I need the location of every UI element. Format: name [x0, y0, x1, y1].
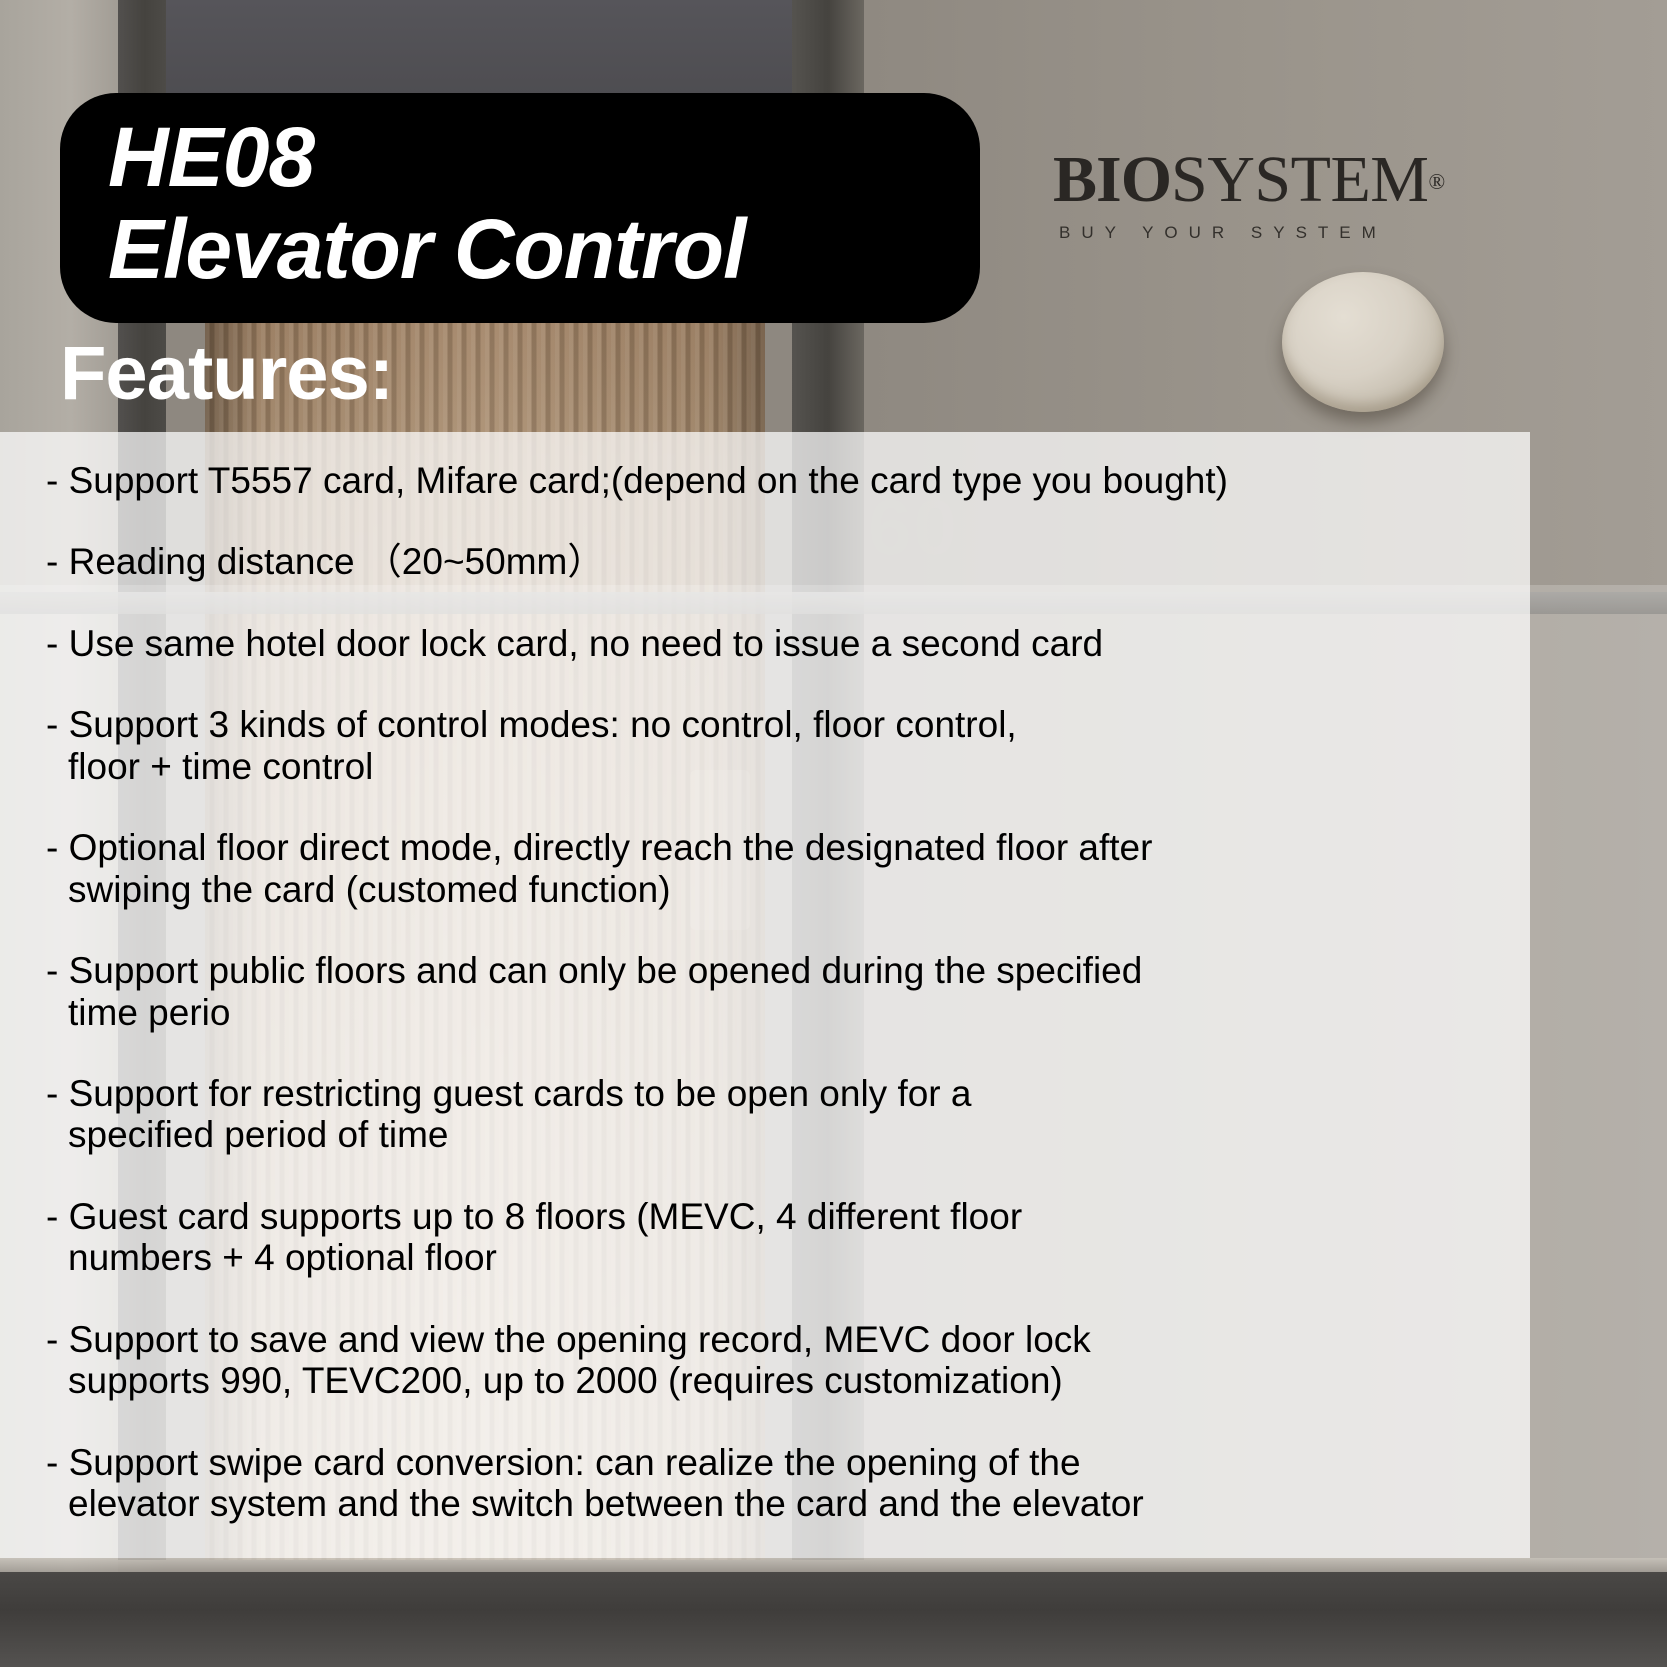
list-item: - Guest card supports up to 8 floors (ME… — [46, 1196, 1466, 1279]
list-item: - Support T5557 card, Mifare card;(depen… — [46, 460, 1466, 501]
features-heading: Features: — [60, 330, 393, 417]
poster-canvas: 60 HE08 Elevator Control BIOSYSTEM® BUY … — [0, 0, 1667, 1667]
list-item: - Support public floors and can only be … — [46, 950, 1466, 1033]
list-item: - Support to save and view the opening r… — [46, 1319, 1466, 1402]
list-item: - Optional floor direct mode, directly r… — [46, 827, 1466, 910]
list-item: - Support 3 kinds of control modes: no c… — [46, 704, 1466, 787]
list-item: - Support for restricting guest cards to… — [46, 1073, 1466, 1156]
brand-wordmark: BIOSYSTEM® — [1053, 148, 1445, 211]
floor-strip — [0, 1572, 1667, 1667]
product-name: Elevator Control — [108, 201, 745, 298]
brand-name-bold: BIO — [1053, 143, 1171, 216]
registered-trademark-icon: ® — [1428, 169, 1445, 194]
brand-name-light: SYSTEM — [1171, 143, 1428, 216]
brand-logo: BIOSYSTEM® BUY YOUR SYSTEM — [1053, 148, 1445, 243]
features-list: - Support T5557 card, Mifare card;(depen… — [46, 460, 1466, 1564]
brand-tagline: BUY YOUR SYSTEM — [1053, 223, 1445, 243]
product-title-badge: HE08 Elevator Control — [60, 93, 980, 323]
round-knob-icon — [1282, 272, 1444, 412]
list-item: - Use same hotel door lock card, no need… — [46, 623, 1466, 664]
list-item: - Support swipe card conversion: can rea… — [46, 1442, 1466, 1525]
list-item: - Reading distance （20~50mm） — [46, 541, 1466, 582]
product-model: HE08 — [108, 109, 314, 206]
